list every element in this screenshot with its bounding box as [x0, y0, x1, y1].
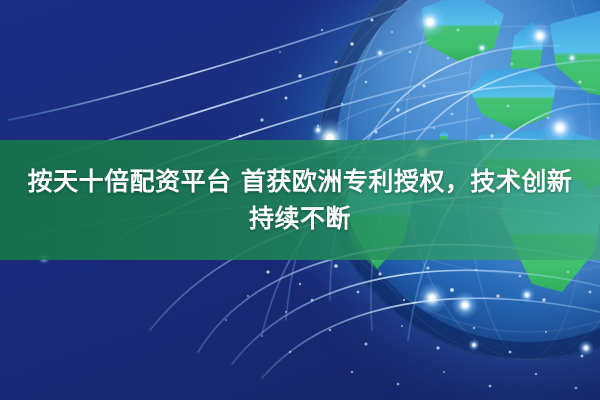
headline-line-2: 持续不断	[249, 200, 351, 237]
headline-container: 按天十倍配资平台 首获欧洲专利授权，技术创新 持续不断	[0, 140, 600, 260]
headline-line-1: 按天十倍配资平台 首获欧洲专利授权，技术创新	[28, 163, 573, 200]
promo-banner: 按天十倍配资平台 首获欧洲专利授权，技术创新 持续不断	[0, 0, 600, 400]
